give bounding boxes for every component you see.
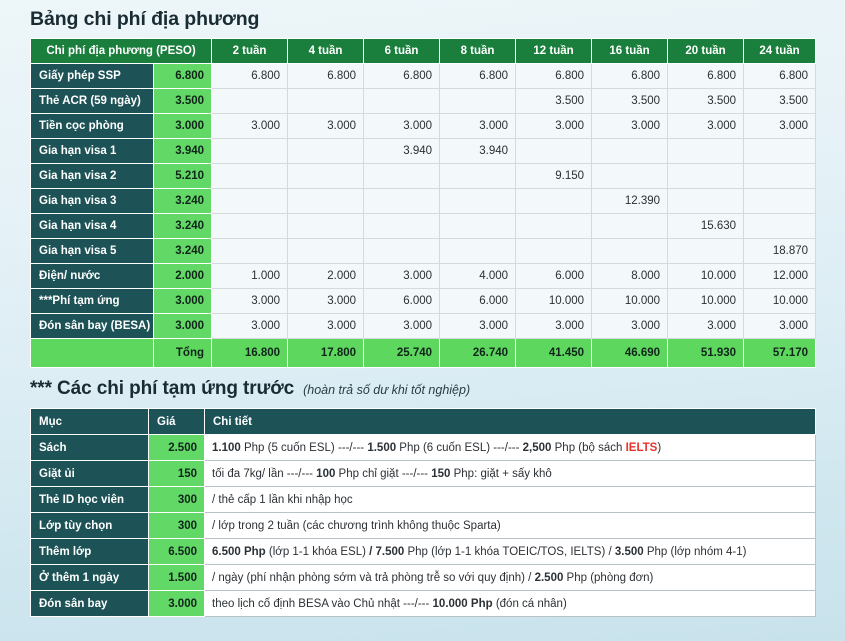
cell-value: [516, 189, 592, 214]
cell-value: 6.800: [288, 64, 364, 89]
row-unit-price: 3.240: [154, 189, 212, 214]
table-row: Giấy phép SSP6.8006.8006.8006.8006.8006.…: [31, 64, 816, 89]
table-row: Gia hạn visa 13.9403.9403.940: [31, 139, 816, 164]
cell-value: [668, 139, 744, 164]
cell-value: 3.000: [364, 314, 440, 339]
row-label: Giấy phép SSP: [31, 64, 154, 89]
row-label: Gia hạn visa 3: [31, 189, 154, 214]
detail-fragment: 1.500: [367, 442, 396, 454]
page-title: Bảng chi phí địa phương: [30, 0, 815, 31]
advance-cost-table-wrapper: Mục Giá Chi tiết Sách2.5001.100 Php (5 c…: [30, 408, 815, 617]
detail-fragment: ): [657, 442, 661, 454]
table-body: Giấy phép SSP6.8006.8006.8006.8006.8006.…: [31, 64, 816, 368]
row-unit-price: 3.940: [154, 139, 212, 164]
item-price: 300: [149, 513, 205, 539]
item-detail: 6.500 Php (lớp 1-1 khóa ESL) / 7.500 Php…: [205, 539, 816, 565]
item-label: Sách: [31, 435, 149, 461]
cell-value: 3.000: [516, 114, 592, 139]
cell-value: [440, 214, 516, 239]
row-unit-price: 6.800: [154, 64, 212, 89]
row-unit-price: 2.000: [154, 264, 212, 289]
cell-value: 6.000: [440, 289, 516, 314]
detail-fragment: Php (lớp nhóm 4-1): [644, 546, 747, 558]
detail-fragment: 2,500: [523, 442, 552, 454]
cell-value: 1.000: [212, 264, 288, 289]
cell-value: 10.000: [668, 289, 744, 314]
table-row: Thêm lớp6.5006.500 Php (lớp 1-1 khóa ESL…: [31, 539, 816, 565]
cell-value: [212, 139, 288, 164]
column-header-2w: 2 tuần: [212, 39, 288, 64]
detail-fragment: 100: [316, 468, 335, 480]
cell-value: 6.800: [592, 64, 668, 89]
cell-value: 3.000: [668, 114, 744, 139]
table-header: Chi phí địa phương (PESO) 2 tuần 4 tuần …: [31, 39, 816, 64]
item-price: 300: [149, 487, 205, 513]
page-root: Bảng chi phí địa phương Chi phí địa phươ…: [0, 0, 845, 641]
cell-value: 3.940: [364, 139, 440, 164]
row-label: ***Phí tạm ứng: [31, 289, 154, 314]
detail-fragment: 2.500: [535, 572, 564, 584]
cell-value: 3.000: [516, 314, 592, 339]
detail-fragment: Php (bộ sách: [551, 442, 625, 454]
total-value: 17.800: [288, 339, 364, 368]
total-value: 46.690: [592, 339, 668, 368]
cell-value: 6.800: [212, 64, 288, 89]
cell-value: [212, 164, 288, 189]
cell-value: [516, 214, 592, 239]
row-label: Gia hạn visa 4: [31, 214, 154, 239]
column-header-6w: 6 tuần: [364, 39, 440, 64]
cell-value: [668, 239, 744, 264]
cell-value: 3.500: [516, 89, 592, 114]
item-detail: tối đa 7kg/ lần ---/--- 100 Php chỉ giặt…: [205, 461, 816, 487]
total-value: 16.800: [212, 339, 288, 368]
header-row: Chi phí địa phương (PESO) 2 tuần 4 tuần …: [31, 39, 816, 64]
local-cost-table: Chi phí địa phương (PESO) 2 tuần 4 tuần …: [30, 38, 816, 368]
detail-fragment: theo lịch cố định BESA vào Chủ nhật ---/…: [212, 598, 433, 610]
cell-value: [516, 139, 592, 164]
row-unit-price: 3.000: [154, 289, 212, 314]
row-label: Gia hạn visa 2: [31, 164, 154, 189]
table-row: Gia hạn visa 53.24018.870: [31, 239, 816, 264]
cell-value: [288, 164, 364, 189]
cell-value: [744, 164, 816, 189]
cell-value: [288, 189, 364, 214]
cell-value: 3.940: [440, 139, 516, 164]
cell-value: [668, 164, 744, 189]
cell-value: 6.800: [744, 64, 816, 89]
cell-value: [364, 214, 440, 239]
detail-fragment: Php (5 cuốn ESL) ---/---: [241, 442, 368, 454]
column-header-8w: 8 tuần: [440, 39, 516, 64]
advance-cost-table: Mục Giá Chi tiết Sách2.5001.100 Php (5 c…: [30, 408, 816, 617]
cell-value: 3.000: [744, 114, 816, 139]
table-row: Giặt ủi150tối đa 7kg/ lần ---/--- 100 Ph…: [31, 461, 816, 487]
table-row: Gia hạn visa 33.24012.390: [31, 189, 816, 214]
table-row: Đón sân bay (BESA)3.0003.0003.0003.0003.…: [31, 314, 816, 339]
cell-value: 10.000: [744, 289, 816, 314]
table-row: Đón sân bay3.000theo lịch cố định BESA v…: [31, 591, 816, 617]
advance-cost-title: *** Các chi phí tạm ứng trước: [30, 378, 294, 400]
item-detail: / lớp trong 2 tuần (các chương trình khô…: [205, 513, 816, 539]
detail-fragment: / 7.500: [369, 546, 404, 558]
cell-value: 6.800: [440, 64, 516, 89]
cell-value: 6.800: [516, 64, 592, 89]
cell-value: [440, 189, 516, 214]
detail-fragment: IELTS: [626, 442, 658, 454]
table-row: Lớp tùy chọn300/ lớp trong 2 tuần (các c…: [31, 513, 816, 539]
table-row: Thẻ ACR (59 ngày)3.5003.5003.5003.5003.5…: [31, 89, 816, 114]
column-header-muc: Mục: [31, 409, 149, 435]
detail-fragment: (lớp 1-1 khóa ESL): [266, 546, 369, 558]
row-label: Đón sân bay (BESA): [31, 314, 154, 339]
table2-body: Sách2.5001.100 Php (5 cuốn ESL) ---/--- …: [31, 435, 816, 617]
detail-fragment: 6.500 Php: [212, 546, 266, 558]
item-detail: / thẻ cấp 1 lần khi nhập học: [205, 487, 816, 513]
item-label: Lớp tùy chọn: [31, 513, 149, 539]
cell-value: [364, 89, 440, 114]
cell-value: 12.000: [744, 264, 816, 289]
cell-value: [592, 214, 668, 239]
cell-value: 2.000: [288, 264, 364, 289]
cell-value: 4.000: [440, 264, 516, 289]
total-label: Tổng: [154, 339, 212, 368]
detail-fragment: / thẻ cấp 1 lần khi nhập học: [212, 494, 353, 506]
cell-value: 3.500: [668, 89, 744, 114]
item-price: 150: [149, 461, 205, 487]
detail-fragment: Php (lớp 1-1 khóa TOEIC/TOS, IELTS) /: [404, 546, 615, 558]
item-label: Thêm lớp: [31, 539, 149, 565]
total-value: 26.740: [440, 339, 516, 368]
cell-value: 3.000: [288, 114, 364, 139]
advance-cost-heading: *** Các chi phí tạm ứng trước (hoàn trả …: [30, 368, 815, 400]
column-header-label: Chi phí địa phương (PESO): [31, 39, 212, 64]
table-row: Sách2.5001.100 Php (5 cuốn ESL) ---/--- …: [31, 435, 816, 461]
cell-value: [592, 139, 668, 164]
cell-value: [212, 239, 288, 264]
detail-fragment: 150: [431, 468, 450, 480]
cell-value: [440, 164, 516, 189]
cell-value: 3.500: [592, 89, 668, 114]
item-detail: / ngày (phí nhận phòng sớm và trả phòng …: [205, 565, 816, 591]
cell-value: 3.000: [440, 114, 516, 139]
total-value: 25.740: [364, 339, 440, 368]
cell-value: 3.000: [592, 314, 668, 339]
table-row: ***Phí tạm ứng3.0003.0003.0006.0006.0001…: [31, 289, 816, 314]
table-row: Gia hạn visa 43.24015.630: [31, 214, 816, 239]
cell-value: [212, 89, 288, 114]
row-label: Thẻ ACR (59 ngày): [31, 89, 154, 114]
detail-fragment: Php (phòng đơn): [563, 572, 653, 584]
cell-value: 3.000: [364, 264, 440, 289]
cell-value: 3.000: [212, 114, 288, 139]
cell-value: [440, 89, 516, 114]
item-label: Giặt ủi: [31, 461, 149, 487]
column-header-20w: 20 tuần: [668, 39, 744, 64]
total-row: Tổng16.80017.80025.74026.74041.45046.690…: [31, 339, 816, 368]
advance-cost-note: (hoàn trả số dư khi tốt nghiệp): [303, 383, 470, 397]
row-unit-price: 3.240: [154, 214, 212, 239]
detail-fragment: 1.100: [212, 442, 241, 454]
detail-fragment: (đón cá nhân): [493, 598, 567, 610]
cell-value: 6.800: [364, 64, 440, 89]
cell-value: 3.000: [592, 114, 668, 139]
total-spacer: [31, 339, 154, 368]
cell-value: 3.000: [440, 314, 516, 339]
row-unit-price: 5.210: [154, 164, 212, 189]
cell-value: [288, 139, 364, 164]
column-header-gia: Giá: [149, 409, 205, 435]
cell-value: [364, 189, 440, 214]
item-price: 2.500: [149, 435, 205, 461]
item-price: 3.000: [149, 591, 205, 617]
column-header-16w: 16 tuần: [592, 39, 668, 64]
total-value: 51.930: [668, 339, 744, 368]
item-price: 1.500: [149, 565, 205, 591]
detail-fragment: / ngày (phí nhận phòng sớm và trả phòng …: [212, 572, 535, 584]
cell-value: 9.150: [516, 164, 592, 189]
cell-value: [516, 239, 592, 264]
row-label: Gia hạn visa 1: [31, 139, 154, 164]
row-unit-price: 3.000: [154, 314, 212, 339]
cell-value: 10.000: [668, 264, 744, 289]
total-value: 41.450: [516, 339, 592, 368]
cell-value: 3.000: [668, 314, 744, 339]
detail-fragment: Php chỉ giặt ---/---: [335, 468, 431, 480]
cell-value: [592, 164, 668, 189]
row-label: Gia hạn visa 5: [31, 239, 154, 264]
item-label: Ở thêm 1 ngày: [31, 565, 149, 591]
cell-value: 3.000: [212, 289, 288, 314]
row-label: Điện/ nước: [31, 264, 154, 289]
cell-value: 10.000: [516, 289, 592, 314]
column-header-24w: 24 tuần: [744, 39, 816, 64]
table2-header: Mục Giá Chi tiết: [31, 409, 816, 435]
row-unit-price: 3.000: [154, 114, 212, 139]
cell-value: 3.000: [288, 289, 364, 314]
cell-value: [288, 214, 364, 239]
cell-value: 3.000: [288, 314, 364, 339]
cell-value: 3.500: [744, 89, 816, 114]
cell-value: [364, 239, 440, 264]
row-unit-price: 3.240: [154, 239, 212, 264]
cell-value: [744, 214, 816, 239]
cell-value: [744, 139, 816, 164]
detail-fragment: 10.000 Php: [433, 598, 493, 610]
detail-fragment: Php (6 cuốn ESL) ---/---: [396, 442, 523, 454]
cell-value: 8.000: [592, 264, 668, 289]
cell-value: [440, 239, 516, 264]
cell-value: 15.630: [668, 214, 744, 239]
cell-value: 3.000: [364, 114, 440, 139]
cell-value: [744, 189, 816, 214]
table-row: Điện/ nước2.0001.0002.0003.0004.0006.000…: [31, 264, 816, 289]
table-row: Thẻ ID học viên300/ thẻ cấp 1 lần khi nh…: [31, 487, 816, 513]
item-price: 6.500: [149, 539, 205, 565]
column-header-chitiet: Chi tiết: [205, 409, 816, 435]
table-row: Tiền cọc phòng3.0003.0003.0003.0003.0003…: [31, 114, 816, 139]
detail-fragment: Php: giặt + sấy khô: [450, 468, 551, 480]
table-row: Gia hạn visa 25.2109.150: [31, 164, 816, 189]
row-label: Tiền cọc phòng: [31, 114, 154, 139]
cell-value: 3.000: [212, 314, 288, 339]
detail-fragment: tối đa 7kg/ lần ---/---: [212, 468, 316, 480]
total-value: 57.170: [744, 339, 816, 368]
cell-value: [288, 89, 364, 114]
cell-value: 6.000: [516, 264, 592, 289]
local-cost-table-wrapper: Chi phí địa phương (PESO) 2 tuần 4 tuần …: [30, 38, 815, 368]
cell-value: 3.000: [744, 314, 816, 339]
column-header-4w: 4 tuần: [288, 39, 364, 64]
cell-value: [212, 189, 288, 214]
detail-fragment: / lớp trong 2 tuần (các chương trình khô…: [212, 520, 501, 532]
cell-value: 6.000: [364, 289, 440, 314]
header-row: Mục Giá Chi tiết: [31, 409, 816, 435]
table-row: Ở thêm 1 ngày1.500 / ngày (phí nhận phòn…: [31, 565, 816, 591]
cell-value: [212, 214, 288, 239]
cell-value: 10.000: [592, 289, 668, 314]
item-label: Đón sân bay: [31, 591, 149, 617]
item-label: Thẻ ID học viên: [31, 487, 149, 513]
item-detail: 1.100 Php (5 cuốn ESL) ---/--- 1.500 Php…: [205, 435, 816, 461]
item-detail: theo lịch cố định BESA vào Chủ nhật ---/…: [205, 591, 816, 617]
cell-value: [288, 239, 364, 264]
cell-value: 6.800: [668, 64, 744, 89]
cell-value: 18.870: [744, 239, 816, 264]
column-header-12w: 12 tuần: [516, 39, 592, 64]
cell-value: [592, 239, 668, 264]
cell-value: [668, 189, 744, 214]
cell-value: [364, 164, 440, 189]
row-unit-price: 3.500: [154, 89, 212, 114]
cell-value: 12.390: [592, 189, 668, 214]
detail-fragment: 3.500: [615, 546, 644, 558]
